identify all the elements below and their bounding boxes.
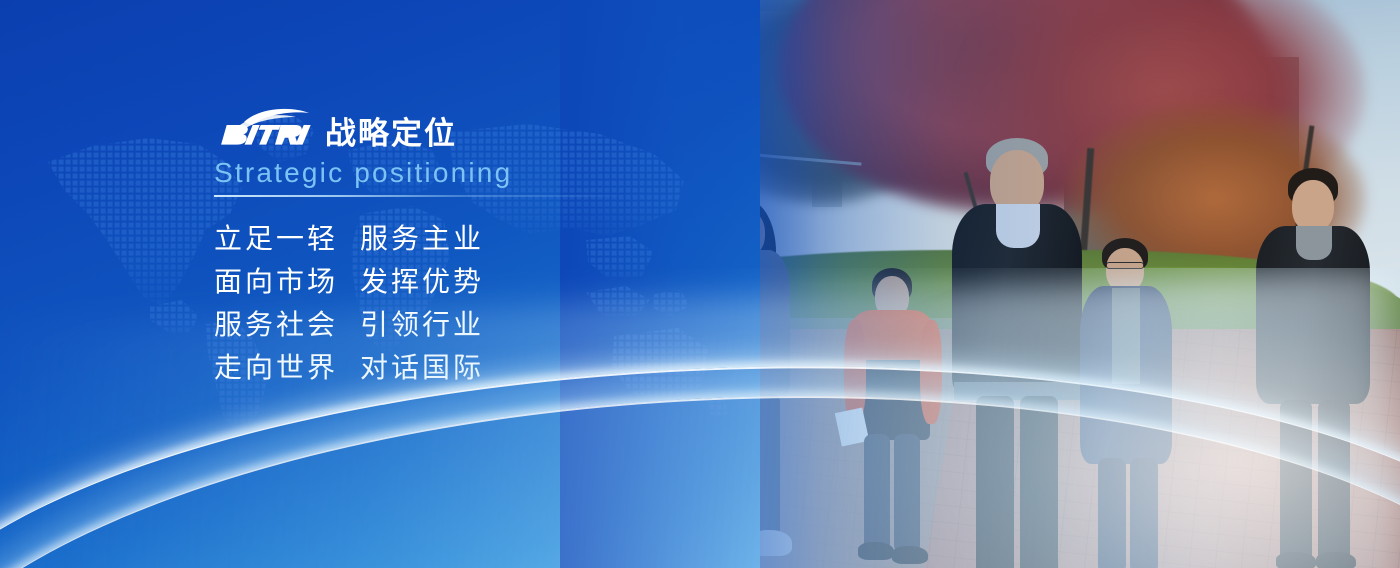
- brand-row: 战略定位: [214, 106, 634, 152]
- slogan-left: 面向市场: [214, 260, 360, 303]
- slogan-row: 面向市场 发挥优势: [214, 260, 634, 303]
- slogan-row: 立足一轻 服务主业: [214, 217, 634, 260]
- slogan-right: 服务主业: [360, 217, 484, 260]
- slogan-list: 立足一轻 服务主业 面向市场 发挥优势 服务社会 引领行业 走向世界 对话国际: [214, 217, 634, 389]
- title-english: Strategic positioning: [214, 158, 634, 189]
- title-chinese: 战略定位: [325, 118, 457, 152]
- strategic-positioning-banner: 战略定位 Strategic positioning 立足一轻 服务主业 面向市…: [0, 0, 1400, 568]
- bitri-logo: [214, 108, 311, 152]
- divider-line: [214, 195, 624, 197]
- text-content: 战略定位 Strategic positioning 立足一轻 服务主业 面向市…: [214, 106, 634, 389]
- slogan-left: 走向世界: [214, 346, 360, 389]
- slogan-right: 引领行业: [360, 303, 484, 346]
- slogan-right: 发挥优势: [360, 260, 484, 303]
- slogan-row: 走向世界 对话国际: [214, 346, 634, 389]
- slogan-row: 服务社会 引领行业: [214, 303, 634, 346]
- slogan-left: 服务社会: [214, 303, 360, 346]
- slogan-left: 立足一轻: [214, 217, 360, 260]
- slogan-right: 对话国际: [360, 346, 484, 389]
